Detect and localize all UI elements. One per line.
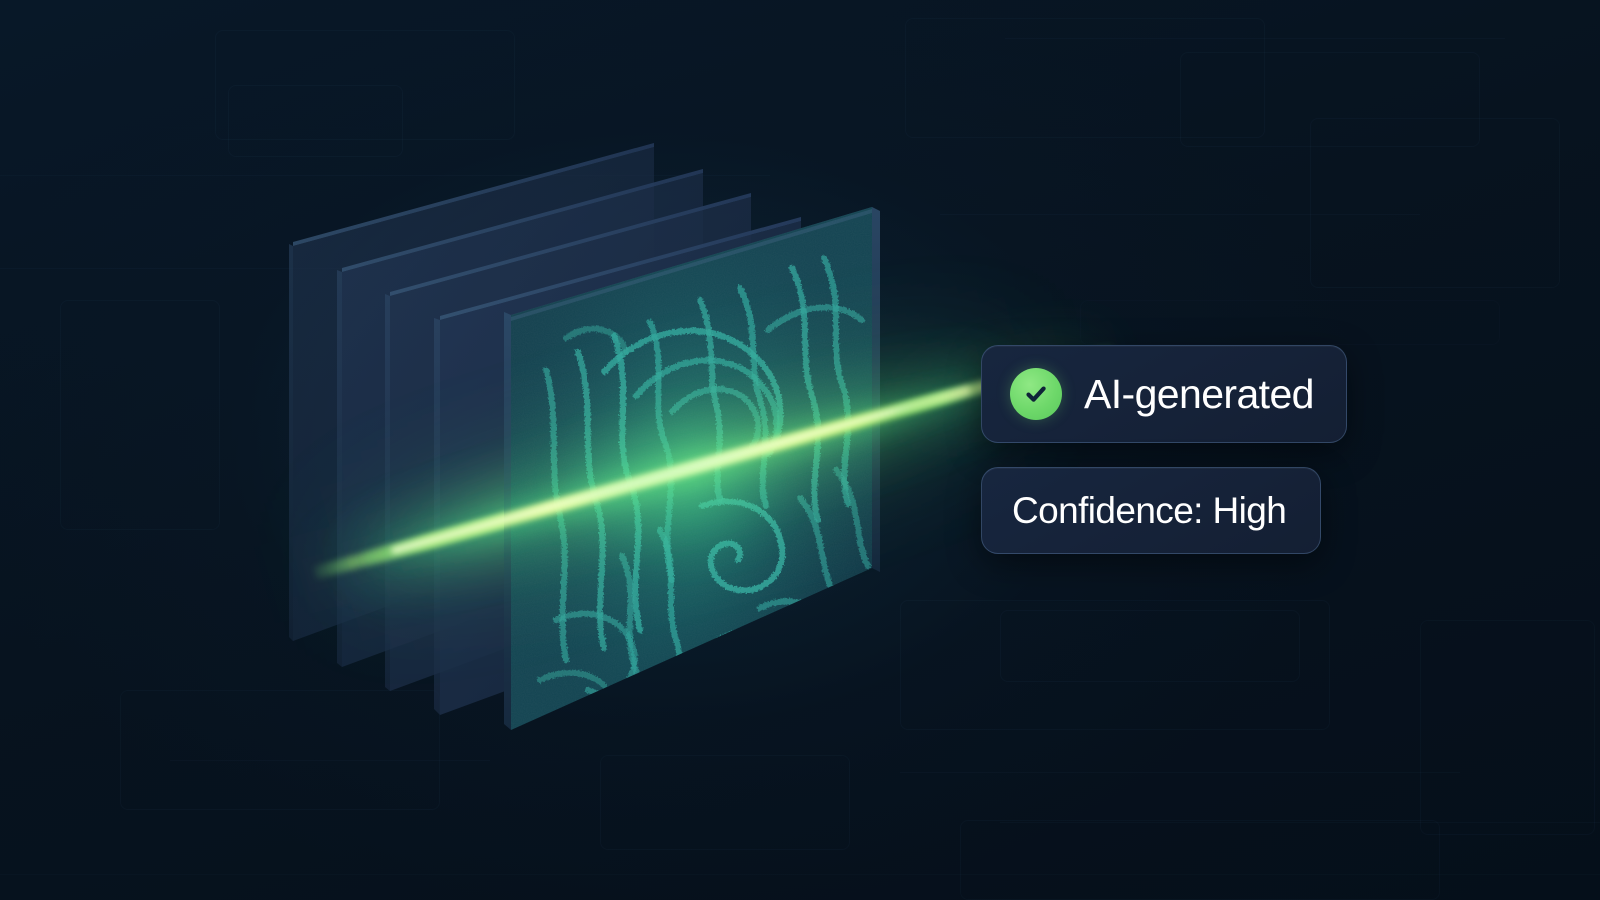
layered-panel-illustration xyxy=(0,0,1600,900)
badge-ai-generated-label: AI-generated xyxy=(1084,374,1314,415)
scene-canvas: AI-generated Confidence: High xyxy=(0,0,1600,900)
detection-result-badges: AI-generated Confidence: High xyxy=(981,345,1347,554)
badge-confidence-label: Confidence: High xyxy=(1012,492,1286,529)
badge-confidence[interactable]: Confidence: High xyxy=(981,467,1321,554)
badge-ai-generated[interactable]: AI-generated xyxy=(981,345,1347,443)
check-circle-icon xyxy=(1010,368,1062,420)
